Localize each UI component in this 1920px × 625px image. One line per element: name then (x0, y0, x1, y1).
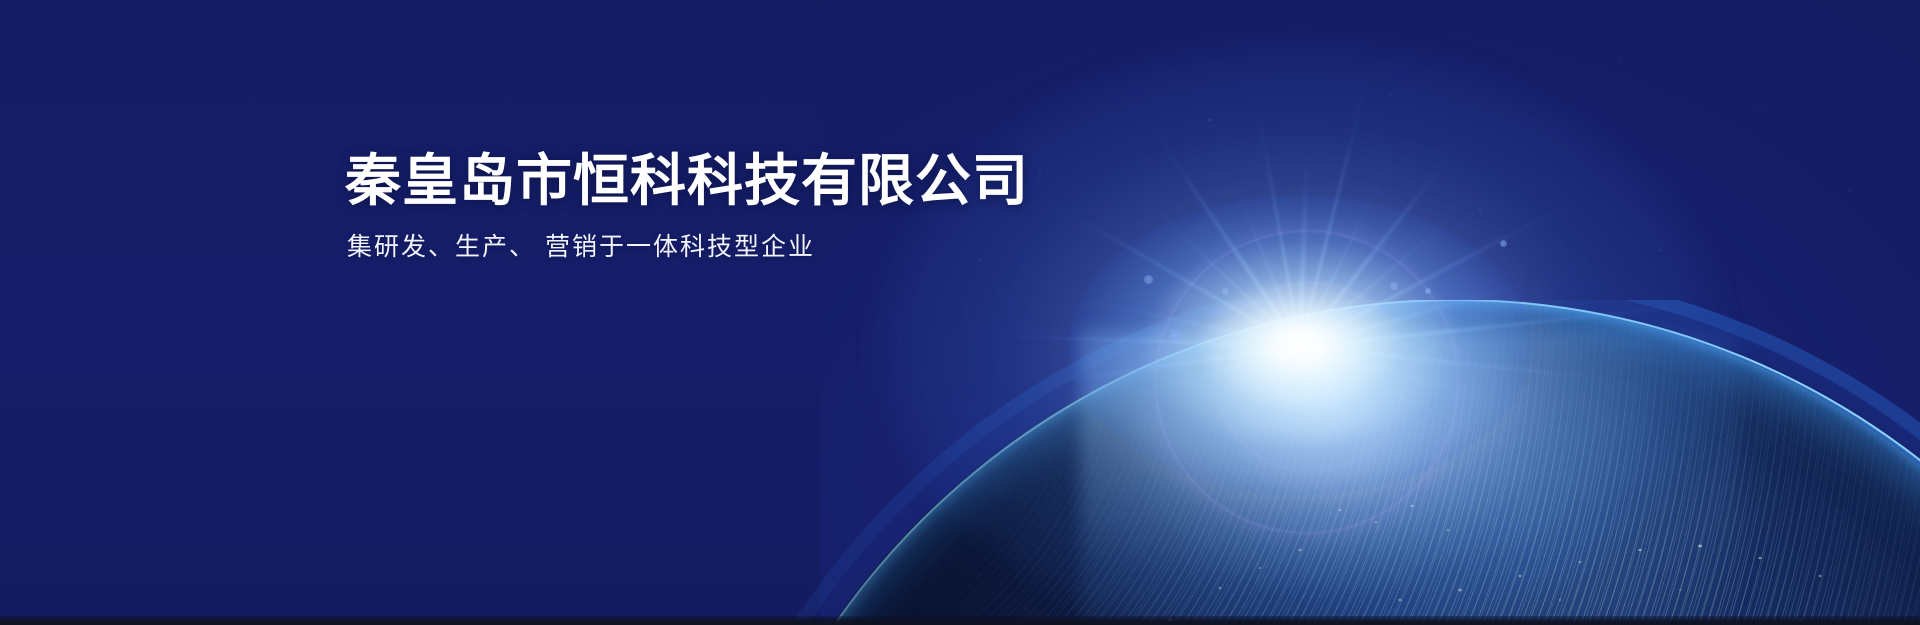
bokeh-dot (1390, 282, 1398, 290)
bokeh-dot (1170, 330, 1181, 341)
bokeh-dot (1425, 288, 1431, 294)
bokeh-dot (1144, 275, 1153, 284)
hero-banner: 秦皇岛市恒科科技有限公司 集研发、生产、 营销于一体科技型企业 (0, 0, 1920, 625)
bottom-edge-band (0, 616, 1920, 625)
bokeh-dot (1222, 288, 1229, 295)
page-title: 秦皇岛市恒科科技有限公司 (345, 148, 1029, 214)
banner-copy: 秦皇岛市恒科科技有限公司 集研发、生产、 营销于一体科技型企业 (345, 148, 1029, 265)
bokeh-dot (1500, 240, 1507, 247)
page-subtitle: 集研发、生产、 营销于一体科技型企业 (347, 230, 1029, 265)
